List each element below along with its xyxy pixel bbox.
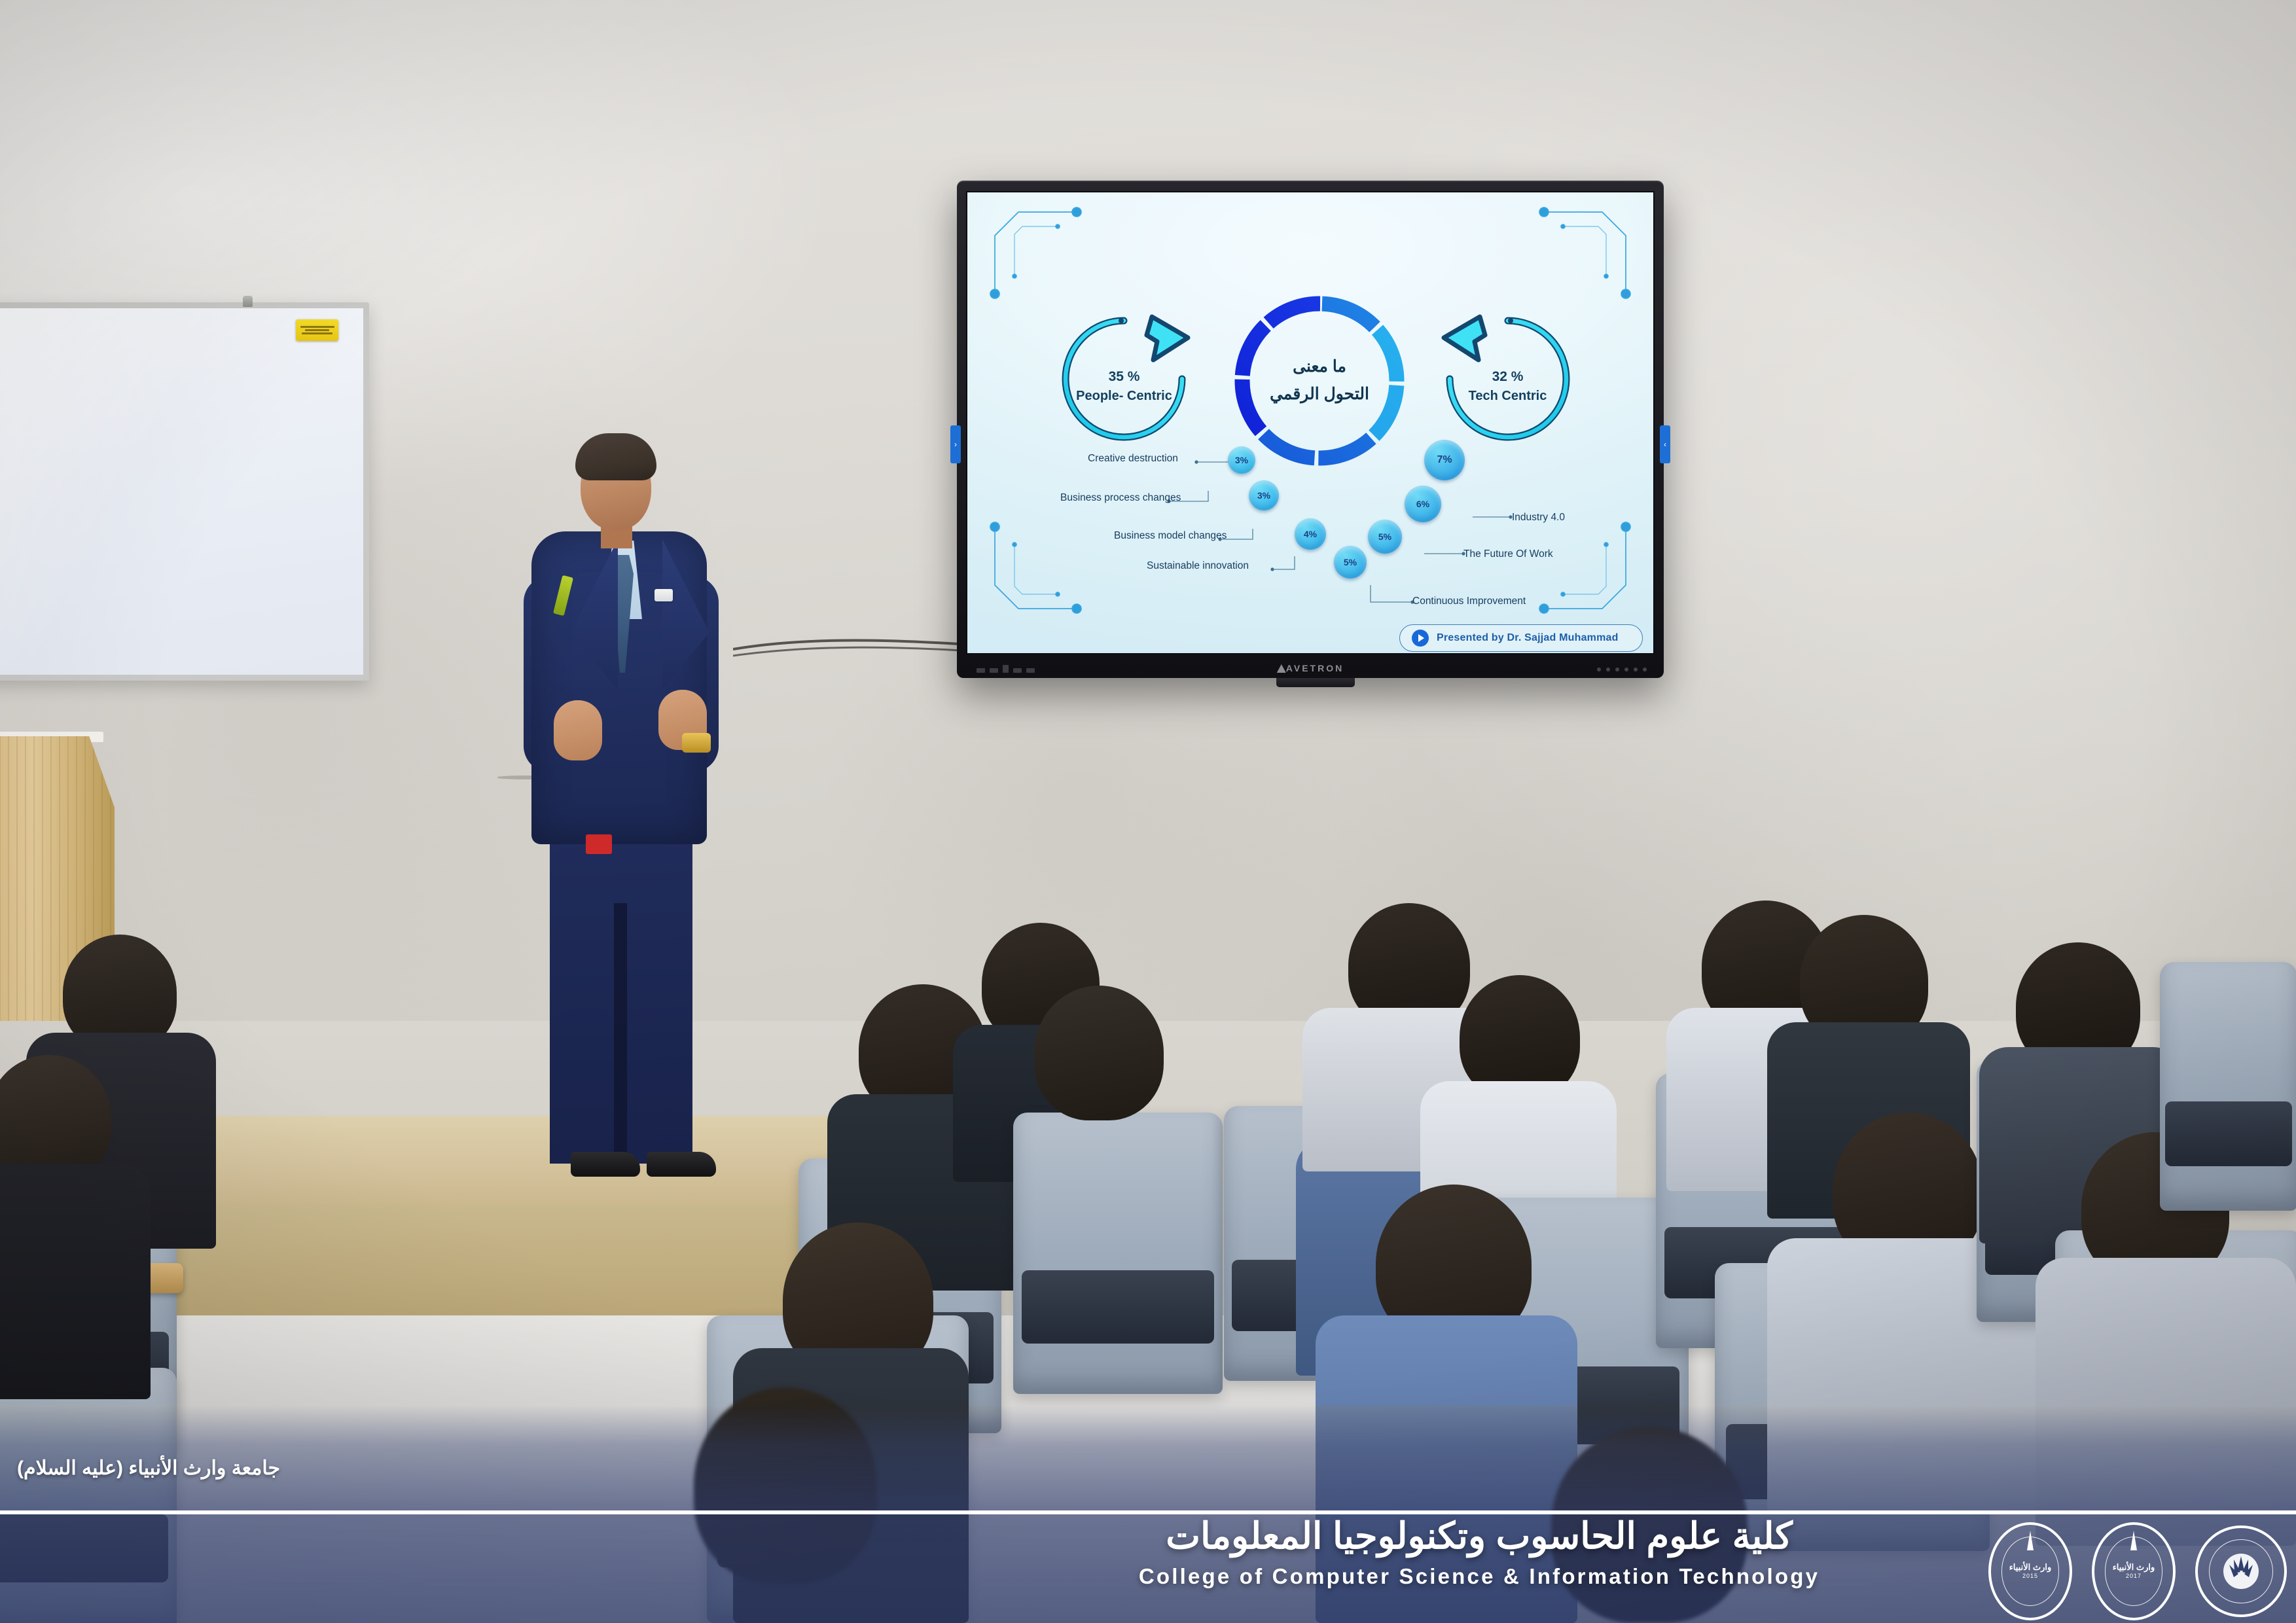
presenter-shoe-right [647, 1152, 716, 1177]
display-mount-stand [1276, 678, 1355, 687]
tech-centric-percent: 32 % [1492, 368, 1524, 385]
banner-divider-rule [0, 1510, 2296, 1514]
ministry-seal-icon [2195, 1525, 2287, 1617]
label-industry-40: Industry 4.0 [1512, 512, 1565, 524]
bubble-continuous-improvement: 5% [1368, 520, 1402, 554]
presenter-lapel-pin [655, 589, 673, 601]
label-continuous-improvement: Continuous Improvement [1412, 596, 1526, 607]
people-centric-orbit: 35 % People- Centric [1054, 309, 1194, 450]
display-screen: ما معنى التحول الرقمي [967, 192, 1653, 653]
ministry-emblem-icon [2221, 1551, 2261, 1592]
display-bezel-chin [967, 631, 1653, 653]
brand-name: AVETRON [1286, 663, 1344, 673]
bubble-sustainable-innovation: 5% [1334, 546, 1367, 579]
seal-minaret-icon [2027, 1531, 2034, 1550]
display-status-dots [1597, 668, 1647, 671]
presenter-hand-left [554, 700, 602, 760]
label-business-process-changes: Business process changes [1060, 492, 1181, 504]
presenter-leg-separation [614, 903, 627, 1165]
center-title-line-1: ما معنى [1293, 356, 1346, 378]
circuit-decoration-bottom-left-icon [977, 512, 1101, 623]
university-seal-2017-icon: وارث الأنبياء 2017 [2092, 1522, 2176, 1620]
university-seal-2015-icon: وارث الأنبياء 2015 [1988, 1522, 2072, 1620]
tech-centric-orbit: 32 % Tech Centric [1437, 309, 1578, 450]
presentation-slide: ما معنى التحول الرقمي [967, 192, 1653, 653]
people-centric-label-group: 35 % People- Centric [1054, 309, 1194, 450]
audience-body [0, 1164, 151, 1399]
seal-arabic-text: وارث الأنبياء [2113, 1563, 2155, 1573]
college-name-english: College of Computer Science & Informatio… [1073, 1564, 1885, 1589]
center-title-line-2: التحول الرقمي [1270, 383, 1369, 406]
people-centric-percent: 35 % [1109, 368, 1140, 385]
seal-year: 2015 [2009, 1573, 2052, 1579]
lecture-hall-scene: ما معنى التحول الرقمي [0, 0, 2296, 1623]
people-centric-label: People- Centric [1076, 388, 1172, 404]
tech-centric-label: Tech Centric [1469, 388, 1547, 404]
presenter-wristwatch [682, 733, 711, 753]
presenter-shoe-left [571, 1152, 640, 1177]
whiteboard-screw [243, 296, 253, 307]
whiteboard [0, 302, 369, 681]
seal-arabic-text: وارث الأنبياء [2009, 1563, 2052, 1573]
presenter-hair [575, 433, 656, 480]
whiteboard-glare [0, 308, 363, 675]
wall-cables [733, 628, 982, 668]
university-name-arabic: جامعة وارث الأنبياء (عليه السلام) [17, 1457, 280, 1480]
display-side-button-left[interactable]: › [950, 425, 961, 463]
display-side-button-right[interactable]: ‹ [1660, 425, 1670, 463]
wall-mounted-display[interactable]: ما معنى التحول الرقمي [957, 181, 1664, 678]
seal-year: 2017 [2113, 1573, 2155, 1579]
institutional-seals: وارث الأنبياء 2015 وارث الأنبياء 2017 [1988, 1522, 2287, 1620]
display-port-indicators [977, 665, 1035, 673]
presenter-id-badge [586, 834, 612, 854]
branding-banner: جامعة وارث الأنبياء (عليه السلام) كلية ع… [0, 1406, 2296, 1623]
bubble-business-process-changes: 3% [1249, 480, 1279, 510]
seat [1013, 1113, 1223, 1394]
seal-inner-ring [2209, 1539, 2273, 1603]
tech-centric-label-group: 32 % Tech Centric [1437, 309, 1578, 450]
label-creative-destruction: Creative destruction [1088, 453, 1178, 465]
seat [2160, 962, 2296, 1211]
brand-triangle-icon [1277, 664, 1286, 673]
seal-minaret-icon [2130, 1531, 2137, 1550]
display-brand-logo: AVETRON [1277, 663, 1344, 673]
bubble-creative-destruction: 3% [1228, 446, 1255, 474]
label-business-model-changes: Business model changes [1114, 530, 1227, 542]
bubble-industry-40: 7% [1424, 440, 1465, 480]
label-future-of-work: The Future Of Work [1463, 548, 1553, 560]
bubble-business-model-changes: 4% [1295, 518, 1326, 550]
audience-head [1034, 986, 1164, 1120]
college-name-block: كلية علوم الحاسوب وتكنولوجيا المعلومات C… [1073, 1516, 1885, 1589]
whiteboard-label-sticker [296, 319, 338, 341]
college-name-arabic: كلية علوم الحاسوب وتكنولوجيا المعلومات [1073, 1516, 1885, 1556]
bubble-future-of-work: 6% [1405, 486, 1441, 522]
circuit-decoration-top-right-icon [1520, 202, 1644, 313]
label-sustainable-innovation: Sustainable innovation [1147, 560, 1249, 572]
circuit-decoration-top-left-icon [977, 202, 1101, 313]
